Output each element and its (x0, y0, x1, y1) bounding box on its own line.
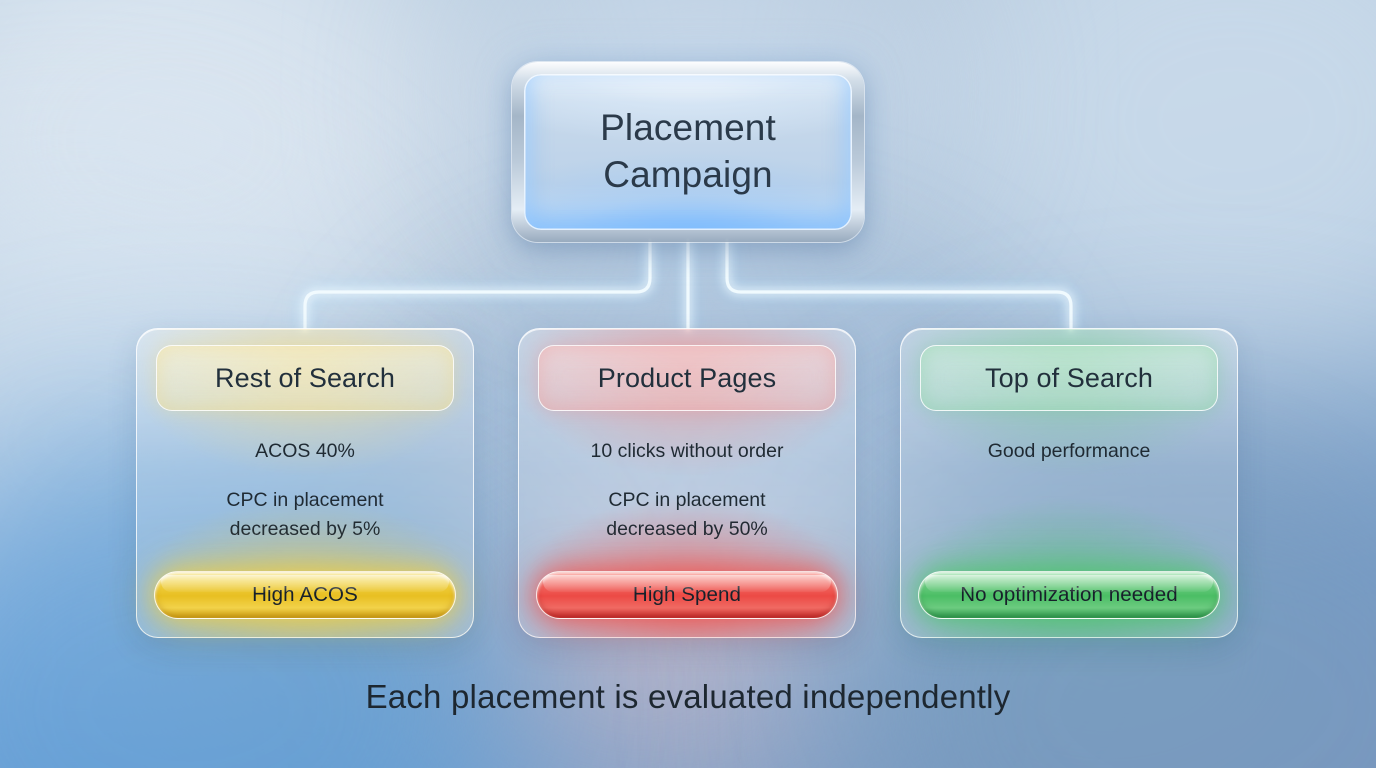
branch-card-rest-of-search[interactable]: Rest of Search ACOS 40% CPC in placement… (136, 328, 474, 638)
card-detail-line: CPC in placement decreased by 5% (226, 486, 383, 544)
root-node-placement-campaign[interactable]: Placement Campaign (512, 62, 864, 242)
card-title-chip: Rest of Search (156, 345, 454, 411)
diagram-caption: Each placement is evaluated independentl… (0, 678, 1376, 716)
status-badge-high-acos[interactable]: High ACOS (154, 571, 456, 619)
card-detail-line: 10 clicks without order (591, 437, 784, 466)
status-badge-label: High Spend (633, 583, 741, 607)
root-node-label: Placement Campaign (600, 105, 776, 198)
card-title-label: Product Pages (598, 363, 776, 394)
diagram-canvas: Placement Campaign Rest of Search ACOS 4… (0, 0, 1376, 768)
status-badge-label: No optimization needed (960, 583, 1178, 607)
branch-card-product-pages[interactable]: Product Pages 10 clicks without order CP… (518, 328, 856, 638)
status-badge-high-spend[interactable]: High Spend (536, 571, 838, 619)
card-body: 10 clicks without order CPC in placement… (537, 411, 837, 571)
card-title-label: Rest of Search (215, 363, 395, 394)
card-body: Good performance (919, 411, 1219, 571)
card-detail-line: ACOS 40% (255, 437, 355, 466)
card-body: ACOS 40% CPC in placement decreased by 5… (155, 411, 455, 571)
root-node-panel: Placement Campaign (524, 74, 852, 230)
status-badge-label: High ACOS (252, 583, 358, 607)
card-title-chip: Top of Search (920, 345, 1218, 411)
status-badge-no-optimization-needed[interactable]: No optimization needed (918, 571, 1220, 619)
card-title-chip: Product Pages (538, 345, 836, 411)
branch-card-top-of-search[interactable]: Top of Search Good performance No optimi… (900, 328, 1238, 638)
card-detail-line: CPC in placement decreased by 50% (606, 486, 768, 544)
card-detail-line: Good performance (988, 437, 1151, 466)
card-title-label: Top of Search (985, 363, 1153, 394)
